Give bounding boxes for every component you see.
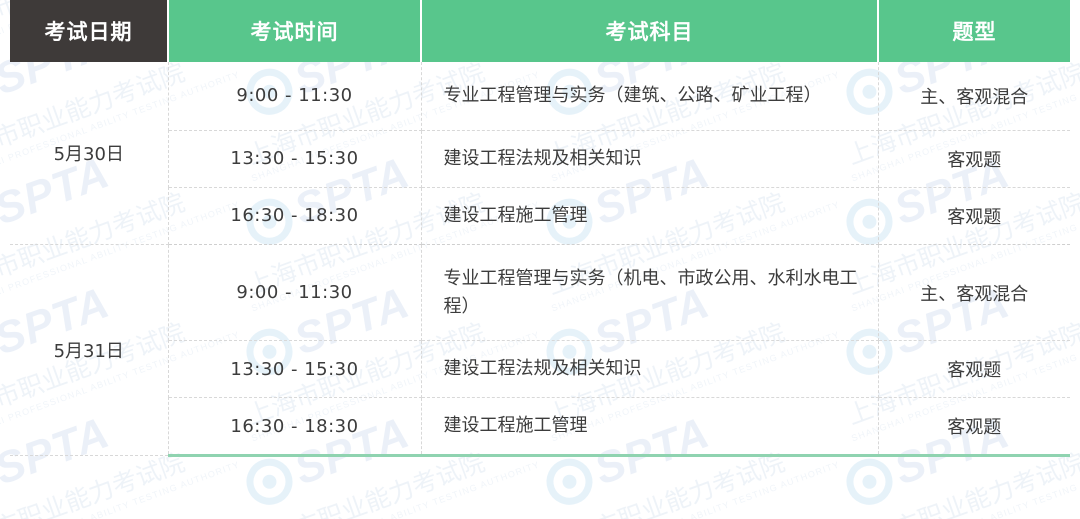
column-header-subject: 考试科目 <box>421 0 878 62</box>
cell-exam-subject: 建设工程施工管理 <box>421 187 878 244</box>
cell-exam-time: 13:30 - 15:30 <box>168 130 421 187</box>
cell-exam-date: 5月31日 <box>10 244 168 456</box>
cell-exam-time: 9:00 - 11:30 <box>168 62 421 130</box>
table-row: 5月30日9:00 - 11:30专业工程管理与实务（建筑、公路、矿业工程）主、… <box>10 62 1070 130</box>
table-row: 16:30 - 18:30建设工程施工管理客观题 <box>10 187 1070 244</box>
watermark-tile: SPTA上海市职业能力考试院SHANGHAI PROFESSIONAL ABIL… <box>240 460 570 519</box>
header-row: 考试日期 考试时间 考试科目 题型 <box>10 0 1070 62</box>
watermark-org-en: SHANGHAI PROFESSIONAL ABILITY TESTING AU… <box>0 459 241 519</box>
table-body: 5月30日9:00 - 11:30专业工程管理与实务（建筑、公路、矿业工程）主、… <box>10 62 1070 456</box>
watermark-tile: SPTA上海市职业能力考试院SHANGHAI PROFESSIONAL ABIL… <box>540 460 870 519</box>
cell-question-type: 主、客观混合 <box>878 62 1070 130</box>
watermark-org-en: SHANGHAI PROFESSIONAL ABILITY TESTING AU… <box>250 459 541 519</box>
column-header-time: 考试时间 <box>168 0 421 62</box>
watermark-org-cn: 上海市职业能力考试院 <box>544 448 788 519</box>
cell-exam-subject: 建设工程法规及相关知识 <box>421 130 878 187</box>
column-header-date: 考试日期 <box>10 0 168 62</box>
watermark-tile: SPTA上海市职业能力考试院SHANGHAI PROFESSIONAL ABIL… <box>0 460 270 519</box>
watermark-ring-icon <box>840 452 899 511</box>
watermark-ring-icon <box>240 452 299 511</box>
cell-question-type: 客观题 <box>878 187 1070 244</box>
cell-question-type: 主、客观混合 <box>878 244 1070 341</box>
cell-exam-time: 16:30 - 18:30 <box>168 187 421 244</box>
cell-exam-subject: 专业工程管理与实务（机电、市政公用、水利水电工程） <box>421 244 878 341</box>
cell-question-type: 客观题 <box>878 398 1070 456</box>
watermark-org-cn: 上海市职业能力考试院 <box>244 448 488 519</box>
cell-exam-subject: 建设工程施工管理 <box>421 398 878 456</box>
cell-exam-subject: 建设工程法规及相关知识 <box>421 341 878 398</box>
cell-exam-date: 5月30日 <box>10 62 168 244</box>
cell-exam-subject: 专业工程管理与实务（建筑、公路、矿业工程） <box>421 62 878 130</box>
watermark-tile: SPTA上海市职业能力考试院SHANGHAI PROFESSIONAL ABIL… <box>840 460 1080 519</box>
watermark-org-en: SHANGHAI PROFESSIONAL ABILITY TESTING AU… <box>850 459 1080 519</box>
watermark-org-en: SHANGHAI PROFESSIONAL ABILITY TESTING AU… <box>550 459 841 519</box>
cell-exam-time: 16:30 - 18:30 <box>168 398 421 456</box>
cell-question-type: 客观题 <box>878 341 1070 398</box>
exam-schedule-table: 考试日期 考试时间 考试科目 题型 5月30日9:00 - 11:30专业工程管… <box>10 0 1070 457</box>
table-row: 16:30 - 18:30建设工程施工管理客观题 <box>10 398 1070 456</box>
table-row: 5月31日9:00 - 11:30专业工程管理与实务（机电、市政公用、水利水电工… <box>10 244 1070 341</box>
watermark-org-cn: 上海市职业能力考试院 <box>844 448 1080 519</box>
table-row: 13:30 - 15:30建设工程法规及相关知识客观题 <box>10 341 1070 398</box>
column-header-type: 题型 <box>878 0 1070 62</box>
watermark-ring-icon <box>540 452 599 511</box>
watermark-org-cn: 上海市职业能力考试院 <box>0 448 188 519</box>
cell-question-type: 客观题 <box>878 130 1070 187</box>
cell-exam-time: 9:00 - 11:30 <box>168 244 421 341</box>
table-row: 13:30 - 15:30建设工程法规及相关知识客观题 <box>10 130 1070 187</box>
cell-exam-time: 13:30 - 15:30 <box>168 341 421 398</box>
table-header: 考试日期 考试时间 考试科目 题型 <box>10 0 1070 62</box>
